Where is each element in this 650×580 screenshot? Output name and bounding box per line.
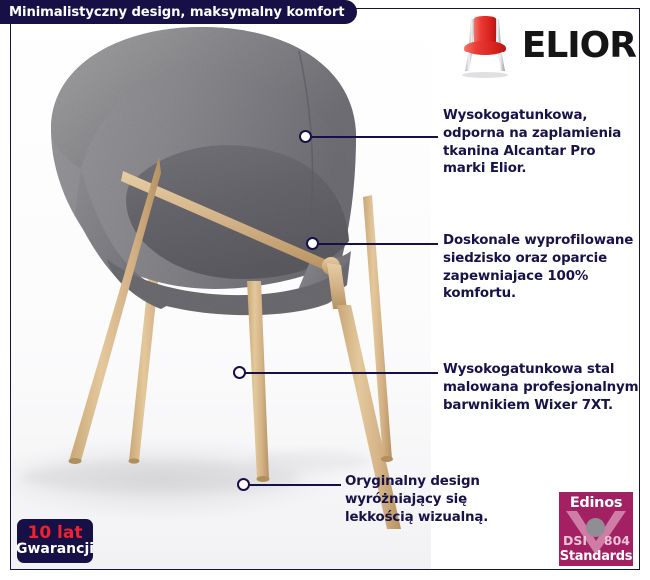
callout-dot[interactable] <box>233 366 246 379</box>
badge-circle-icon <box>586 518 605 537</box>
callout-dot[interactable] <box>306 237 319 250</box>
certificate-caption: Standards <box>559 549 633 564</box>
callout-dot[interactable] <box>237 478 250 491</box>
callout-line <box>311 136 438 138</box>
certificate-name: Edinos <box>559 495 633 511</box>
callout-dot[interactable] <box>299 130 312 143</box>
certificate-code-right: 804 <box>604 533 630 548</box>
callout-text-original-design: Oryginalny design wyróżniający się lekko… <box>345 473 488 526</box>
red-chair-icon <box>454 13 516 79</box>
warranty-label: Gwarancji <box>16 542 94 557</box>
brand-logo: ELIOR <box>456 10 636 82</box>
header-banner: Minimalistyczny design, maksymalny komfo… <box>0 0 357 24</box>
product-infographic: Minimalistyczny design, maksymalny komfo… <box>0 0 650 580</box>
certificate-badge: Edinos DSI 804 Standards <box>559 492 633 566</box>
page-title: Minimalistyczny design, maksymalny komfo… <box>0 5 344 20</box>
callout-line <box>249 484 341 486</box>
callout-text-steel-frame: Wysokogatunkowa stal malowana profesjona… <box>443 361 638 414</box>
brand-name: ELIOR <box>522 28 636 64</box>
warranty-badge: 10 lat Gwarancji <box>17 519 93 563</box>
callout-text-seat-backrest: Doskonale wyprofilowane siedzisko oraz o… <box>443 232 633 303</box>
callout-text-fabric: Wysokogatunkowa, odporna na zaplamienia … <box>443 107 621 178</box>
callout-line <box>245 372 438 374</box>
callout-line <box>318 243 438 245</box>
certificate-code-left: DSI <box>563 533 587 548</box>
warranty-years: 10 lat <box>27 525 82 542</box>
